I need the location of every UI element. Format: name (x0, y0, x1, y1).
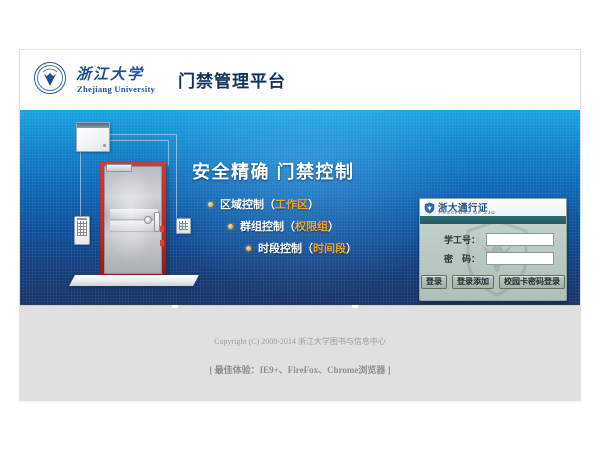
site-header: 浙江大学 Zhejiang University 门禁管理平台 (20, 50, 580, 110)
card-reader-icon (176, 218, 191, 234)
login-add-button[interactable]: 登录添加 (452, 275, 494, 289)
username-input[interactable] (486, 233, 554, 246)
logo-text-en: Zhejiang University (77, 84, 155, 94)
door-hinge-icon (160, 240, 164, 246)
feature-label: 区域控制（ (220, 196, 275, 212)
site-footer: Copyright (C) 2008-2014 浙江大学图书与信息中心 [ 最佳… (20, 305, 580, 400)
wire-right-2 (168, 140, 170, 166)
list-item: 群组控制（ 权限组 ） (192, 218, 402, 234)
footer-notch (172, 305, 178, 308)
password-row: 密 码： (420, 252, 566, 266)
feature-tail: ） (308, 196, 319, 212)
login-button[interactable]: 登录 (421, 275, 447, 289)
bullet-dot-icon (208, 202, 213, 207)
feature-tail: ） (346, 240, 357, 256)
username-label: 学工号： (434, 233, 480, 247)
logo-text-cn: 浙江大学 (76, 63, 144, 84)
list-item: 区域控制（ 工作区 ） (192, 196, 402, 212)
browser-tip-text: [ 最佳体验：IE9+、FireFox、Chrome浏览器 ] (20, 363, 580, 376)
password-input[interactable] (486, 252, 554, 265)
list-item: 时段控制（ 时间段 ） (192, 240, 402, 256)
page-title: 门禁管理平台 (178, 67, 286, 92)
page-container: 浙江大学 Zhejiang University 门禁管理平台 (20, 50, 580, 400)
zju-seal-icon (34, 62, 68, 96)
door-closer-icon (106, 164, 132, 172)
hero-banner: 安全精确 门禁控制 区域控制（ 工作区 ） 群组控制（ 权限组 ） 时段控制（ … (20, 110, 580, 305)
feature-list: 区域控制（ 工作区 ） 群组控制（ 权限组 ） 时段控制（ 时间段 ） (192, 196, 402, 262)
feature-highlight: 工作区 (275, 196, 308, 212)
campus-card-login-button[interactable]: 校园卡密码登录 (499, 275, 565, 289)
login-button-row: 登录 登录添加 校园卡密码登录 (420, 275, 566, 289)
bullet-dot-icon (228, 224, 233, 229)
login-titlebar: 浙大通行证 PASSPORT OF ZJU (420, 199, 566, 217)
wire-top-2 (108, 140, 168, 142)
floor-plane (69, 275, 199, 286)
copyright-text: Copyright (C) 2008-2014 浙江大学图书与信息中心 (20, 336, 580, 347)
password-label: 密 码： (434, 252, 480, 266)
feature-highlight: 权限组 (295, 218, 328, 234)
university-logo[interactable]: 浙江大学 Zhejiang University (34, 61, 184, 99)
wire-left (80, 150, 82, 216)
keypad-reader-icon (74, 216, 90, 245)
feature-label: 时段控制（ (258, 240, 313, 256)
bullet-dot-icon (246, 246, 251, 251)
wire-right (176, 134, 178, 218)
shield-icon (424, 202, 435, 214)
login-title-en: PASSPORT OF ZJU (439, 210, 496, 215)
username-row: 学工号： (420, 233, 566, 247)
hero-headline: 安全精确 门禁控制 (192, 158, 355, 184)
door-knob-icon (144, 216, 152, 224)
login-strip-band: PASSPORT OF ZJU PASSPORT OF ZJU PASSPORT… (420, 216, 566, 224)
feature-label: 群组控制（ (240, 218, 295, 234)
door-illustration (54, 120, 214, 300)
footer-notch (352, 305, 358, 308)
wire-top (108, 134, 176, 136)
feature-highlight: 时间段 (313, 240, 346, 256)
feature-tail: ） (328, 218, 339, 234)
login-panel: 浙大通行证 PASSPORT OF ZJU PASSPORT OF ZJU PA… (419, 198, 567, 301)
access-controller-box-icon (76, 122, 110, 152)
door-hinge-icon (160, 226, 164, 232)
